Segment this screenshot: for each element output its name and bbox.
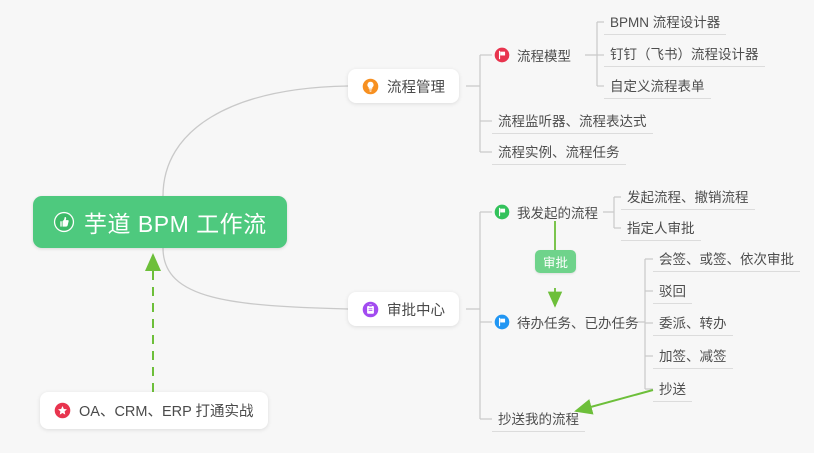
leaf-label: 抄送我的流程 bbox=[498, 408, 579, 428]
leaf-label: 发起流程、撤销流程 bbox=[627, 186, 749, 206]
leaf-label: 委派、转办 bbox=[659, 312, 727, 332]
topic-label: 流程模型 bbox=[517, 45, 571, 65]
flag-icon bbox=[494, 47, 510, 63]
flag-icon bbox=[494, 204, 510, 220]
topic-process-model[interactable]: 流程模型 bbox=[492, 42, 575, 68]
root-node[interactable]: 芋道 BPM 工作流 bbox=[33, 196, 287, 248]
badge-label: 审批 bbox=[543, 252, 568, 271]
leaf-start-cancel-process[interactable]: 发起流程、撤销流程 bbox=[621, 183, 755, 210]
leaf-label: 指定人审批 bbox=[627, 217, 695, 237]
side-note-node[interactable]: OA、CRM、ERP 打通实战 bbox=[40, 392, 268, 429]
star-icon bbox=[54, 402, 71, 419]
leaf-bpmn-designer[interactable]: BPMN 流程设计器 bbox=[604, 8, 726, 35]
branch-approval-center[interactable]: 审批中心 bbox=[348, 292, 459, 326]
leaf-assignee-approval[interactable]: 指定人审批 bbox=[621, 214, 701, 241]
leaf-process-listener-expression[interactable]: 流程监听器、流程表达式 bbox=[492, 107, 653, 134]
leaf-label: 会签、或签、依次审批 bbox=[659, 248, 794, 268]
flow-arrow-cc-to-ccmine bbox=[576, 390, 653, 411]
topic-todo-done-task[interactable]: 待办任务、已办任务 bbox=[492, 309, 643, 335]
thumbs-up-icon bbox=[53, 211, 75, 233]
clipboard-icon bbox=[362, 301, 379, 318]
lightbulb-icon bbox=[362, 78, 379, 95]
branch-label: 流程管理 bbox=[387, 76, 445, 97]
link-ac-spine bbox=[466, 212, 480, 419]
leaf-reject[interactable]: 驳回 bbox=[653, 277, 692, 304]
branch-label: 审批中心 bbox=[387, 299, 445, 320]
link-root-to-process-management bbox=[163, 86, 348, 196]
topic-label: 我发起的流程 bbox=[517, 202, 598, 222]
leaf-label: 自定义流程表单 bbox=[610, 75, 705, 95]
link-pm-spine bbox=[466, 55, 480, 152]
leaf-label: 钉钉（飞书）流程设计器 bbox=[610, 43, 759, 63]
leaf-label: 驳回 bbox=[659, 280, 686, 300]
approval-flow-badge: 审批 bbox=[535, 250, 576, 273]
topic-my-started-process[interactable]: 我发起的流程 bbox=[492, 199, 602, 225]
leaf-label: 抄送 bbox=[659, 378, 686, 398]
leaf-cc-my-process[interactable]: 抄送我的流程 bbox=[492, 405, 585, 432]
leaf-label: 流程监听器、流程表达式 bbox=[498, 110, 647, 130]
leaf-label: 加签、减签 bbox=[659, 345, 727, 365]
leaf-dingtalk-feishu-designer[interactable]: 钉钉（飞书）流程设计器 bbox=[604, 40, 765, 67]
side-note-label: OA、CRM、ERP 打通实战 bbox=[79, 400, 254, 421]
branch-process-management[interactable]: 流程管理 bbox=[348, 69, 459, 103]
leaf-label: BPMN 流程设计器 bbox=[610, 11, 720, 31]
mindmap-canvas: 芋道 BPM 工作流 OA、CRM、ERP 打通实战 流程管理 bbox=[0, 0, 814, 453]
leaf-custom-process-form[interactable]: 自定义流程表单 bbox=[604, 72, 711, 99]
link-started-spine bbox=[603, 197, 614, 228]
leaf-process-instance-task[interactable]: 流程实例、流程任务 bbox=[492, 138, 626, 165]
leaf-countersign-orsign-sequential[interactable]: 会签、或签、依次审批 bbox=[653, 245, 800, 272]
link-model-spine bbox=[585, 22, 597, 86]
leaf-carbon-copy[interactable]: 抄送 bbox=[653, 375, 692, 402]
leaf-add-remove-sign[interactable]: 加签、减签 bbox=[653, 342, 733, 369]
root-label: 芋道 BPM 工作流 bbox=[84, 205, 267, 239]
link-root-to-approval-center bbox=[163, 248, 348, 309]
leaf-delegate-transfer[interactable]: 委派、转办 bbox=[653, 309, 733, 336]
leaf-label: 流程实例、流程任务 bbox=[498, 141, 620, 161]
flag-icon bbox=[494, 314, 510, 330]
topic-label: 待办任务、已办任务 bbox=[517, 312, 639, 332]
